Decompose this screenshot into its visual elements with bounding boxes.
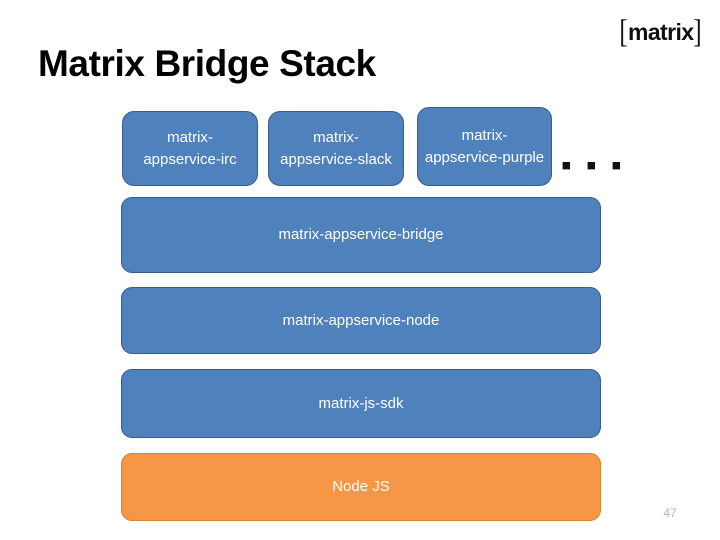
bridge-box-label: matrix-appservice-purple <box>418 125 551 169</box>
bridge-box-purple: matrix-appservice-purple <box>417 107 552 186</box>
matrix-wordmark: matrix <box>628 19 693 45</box>
bracket-right-icon: ] <box>694 17 702 47</box>
layer-bar-js-sdk: matrix-js-sdk <box>121 369 601 438</box>
page-title: Matrix Bridge Stack <box>38 43 376 85</box>
layer-bar-label: matrix-js-sdk <box>319 394 404 414</box>
bridge-box-label: matrix-appservice-irc <box>123 127 257 171</box>
layer-bar-label: matrix-appservice-bridge <box>278 225 443 245</box>
bridge-box-label: matrix-appservice-slack <box>269 127 403 171</box>
bracket-left-icon: [ <box>619 17 627 47</box>
bridge-box-slack: matrix-appservice-slack <box>268 111 404 186</box>
slide-canvas: [ matrix ] Matrix Bridge Stack matrix-ap… <box>0 0 720 540</box>
matrix-logo: [ matrix ] <box>618 16 703 48</box>
layer-bar-label: matrix-appservice-node <box>283 311 440 331</box>
slide-number: 47 <box>655 506 685 520</box>
bridge-box-irc: matrix-appservice-irc <box>122 111 258 186</box>
layer-bar-appservice-node: matrix-appservice-node <box>121 287 601 354</box>
layer-bar-label: Node JS <box>332 477 390 497</box>
ellipsis-more-bridges: ▪ ▪ ▪ <box>561 156 625 176</box>
layer-bar-appservice-bridge: matrix-appservice-bridge <box>121 197 601 273</box>
layer-bar-node-js: Node JS <box>121 453 601 521</box>
